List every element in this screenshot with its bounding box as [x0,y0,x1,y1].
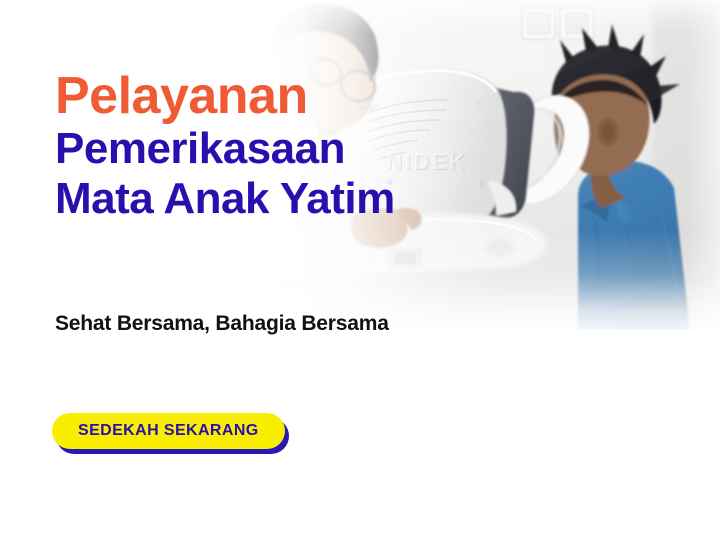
headline-line-1: Pelayanan [55,68,525,124]
banner-content: Pelayanan Pemerikasaan Mata Anak Yatim S… [0,0,720,540]
cta-container: SEDEKAH SEKARANG [52,413,285,449]
headline: Pelayanan Pemerikasaan Mata Anak Yatim [55,68,525,224]
headline-line-2: Pemerikasaan [55,124,525,174]
tagline: Sehat Bersama, Bahagia Bersama [55,309,425,338]
sedekah-sekarang-button[interactable]: SEDEKAH SEKARANG [52,413,285,449]
donation-banner: NIDEK NIDEK [0,0,720,540]
headline-line-3: Mata Anak Yatim [55,174,525,224]
